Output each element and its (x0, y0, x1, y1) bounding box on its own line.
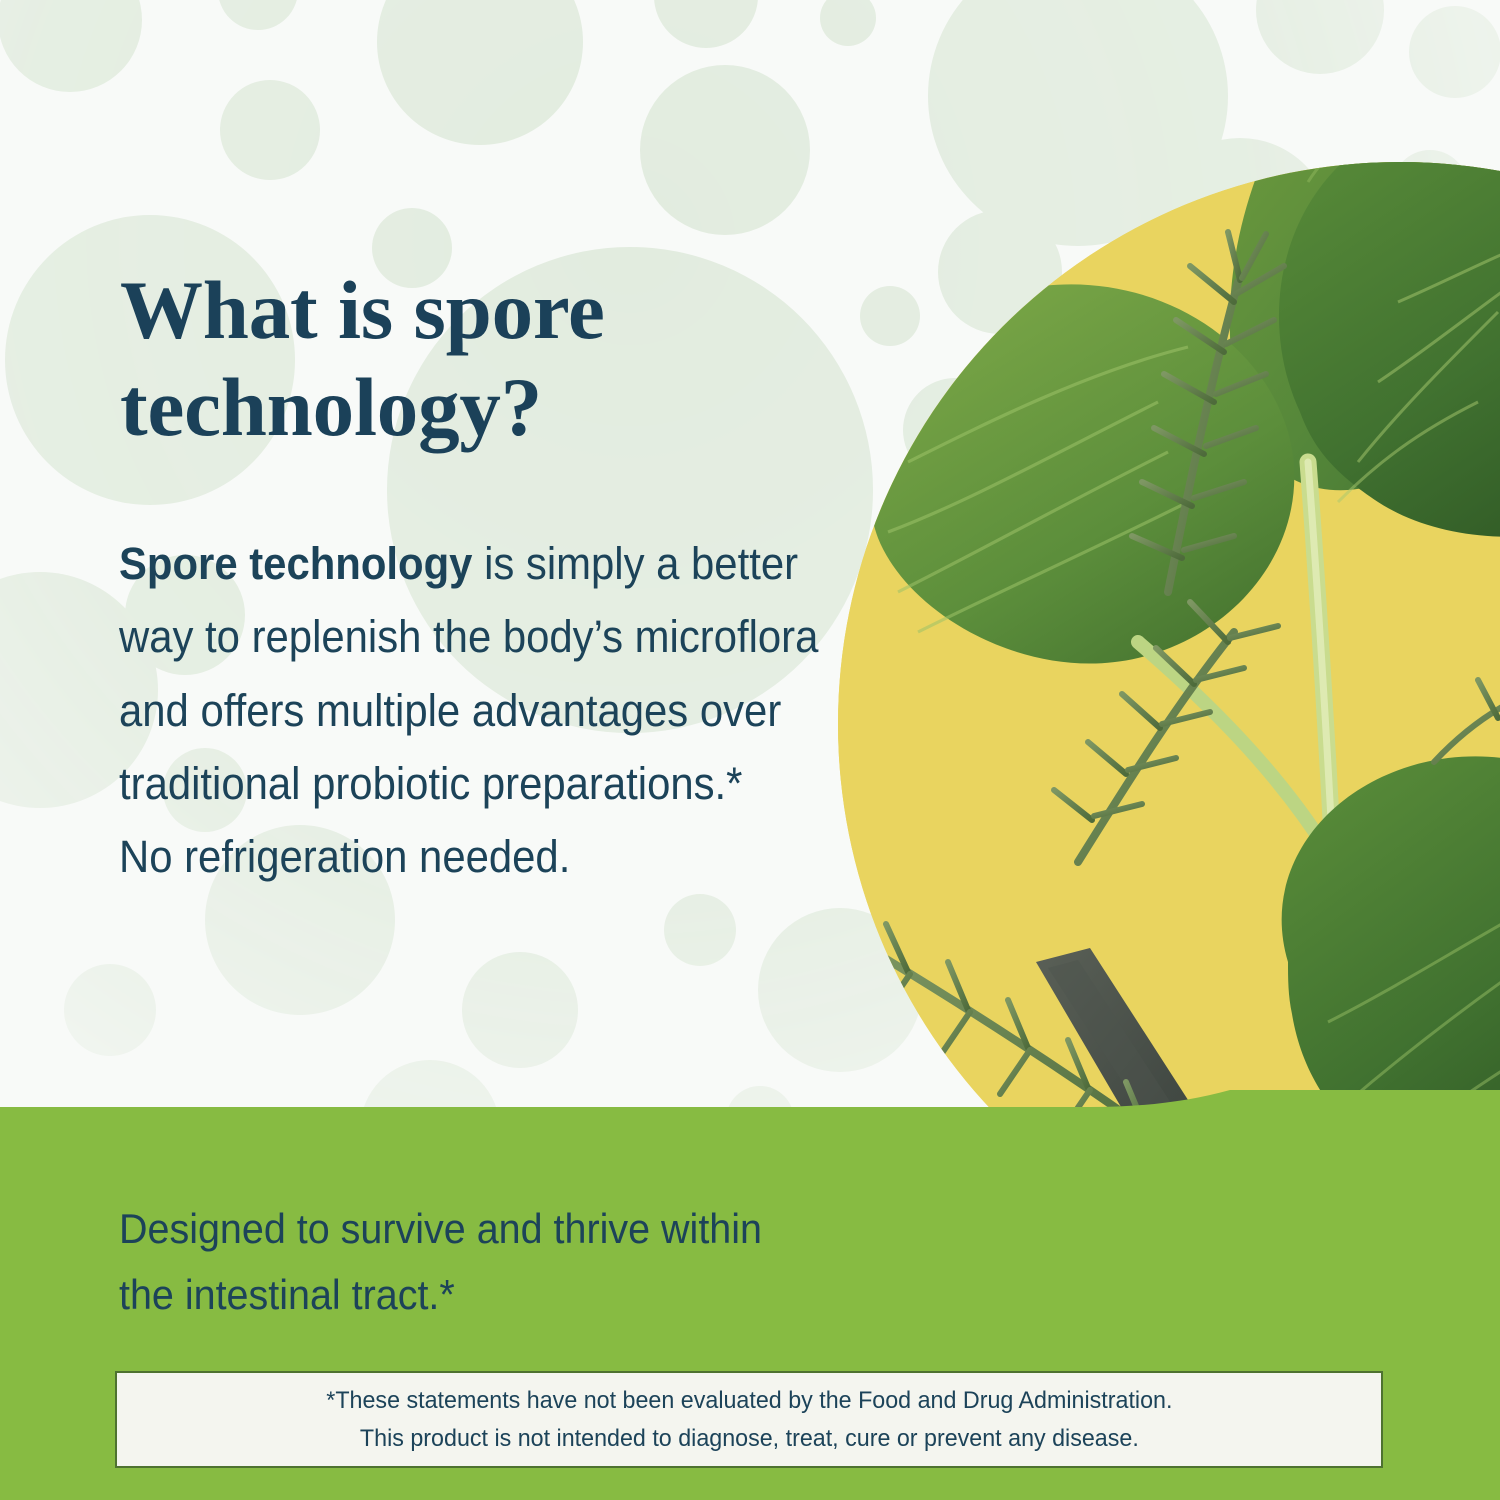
disclaimer-text: *These statements have not been evaluate… (326, 1382, 1172, 1456)
band-tagline: Designed to survive and thrive within th… (119, 1196, 852, 1329)
body-copy: Spore technology is simply a better way … (119, 527, 826, 894)
page-title: What is spore technology? (120, 262, 820, 456)
body-second-line: No refrigeration needed. (119, 820, 826, 893)
body-lead-phrase: Spore technology (119, 538, 472, 589)
disclaimer-box: *These statements have not been evaluate… (115, 1371, 1383, 1468)
infographic-canvas: What is spore technology? Spore technolo… (0, 0, 1500, 1500)
body-paragraph: Spore technology is simply a better way … (119, 527, 826, 820)
